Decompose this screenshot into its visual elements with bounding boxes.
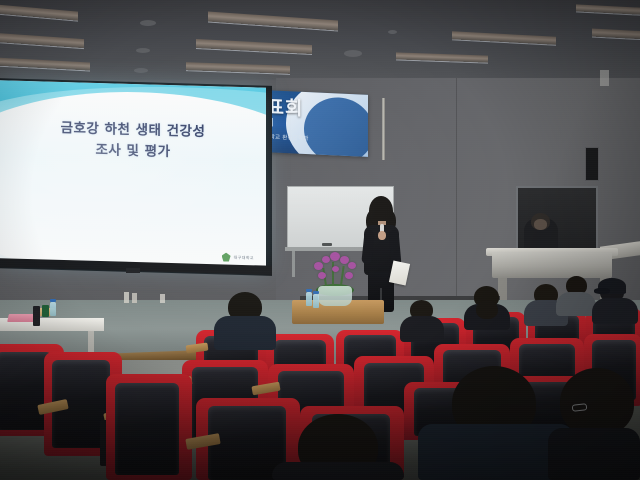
university-emblem-icon xyxy=(222,252,231,261)
ceiling-vent xyxy=(344,50,362,57)
ceiling-light-fixture xyxy=(208,11,338,30)
ceiling-light-fixture xyxy=(576,4,640,14)
ceiling-vent xyxy=(134,68,148,73)
orchid-bloom xyxy=(318,272,326,279)
ceiling-light-fixture xyxy=(0,33,84,48)
water-bottle xyxy=(313,294,319,308)
ceiling-vent xyxy=(140,20,156,26)
bottle-cap xyxy=(50,299,56,302)
water-bottle xyxy=(50,302,56,316)
floor-bottle xyxy=(132,293,137,303)
presenter-notes xyxy=(389,260,410,285)
orchid-bloom xyxy=(348,262,356,269)
slide-university-logo: 대구대학교 xyxy=(222,252,254,262)
orchid-bloom xyxy=(345,272,353,279)
presenter-hand xyxy=(378,231,386,240)
audience-torso xyxy=(400,316,444,342)
ceiling-light-fixture xyxy=(0,4,78,20)
orchid-bloom xyxy=(330,252,340,261)
orchid-bloom xyxy=(322,256,330,263)
ceiling-light-fixture xyxy=(196,39,312,54)
ceiling-vent xyxy=(388,30,397,34)
screen-center-clip xyxy=(126,268,140,273)
seat-row-left xyxy=(106,374,192,480)
water-bottle xyxy=(306,292,312,306)
audience-torso xyxy=(592,298,638,324)
audience-torso xyxy=(556,292,596,316)
audience-head xyxy=(476,300,498,319)
ceiling-light-fixture xyxy=(452,31,556,44)
control-desk xyxy=(492,252,612,278)
banner-support-pole xyxy=(382,98,385,160)
ceiling-light-fixture xyxy=(592,29,640,40)
cap-brim xyxy=(594,288,610,294)
whiteboard-leg xyxy=(292,251,295,277)
presenter xyxy=(355,196,407,314)
ceiling-light-fixture xyxy=(0,57,90,70)
slide-title: 금호강 하천 생태 건강성 조사 및 평가 xyxy=(0,116,266,165)
audience-torso xyxy=(214,316,276,350)
projection-screen: 금호강 하천 생태 건강성 조사 및 평가 대구대학교 xyxy=(0,80,266,270)
ceiling-light-fixture xyxy=(186,62,290,74)
av-operator-face xyxy=(534,219,547,230)
audience-torso xyxy=(548,428,640,480)
whiteboard-marker xyxy=(322,243,332,246)
ceiling-vent xyxy=(136,48,150,53)
floor-bottle xyxy=(124,292,129,303)
ceiling-light-fixture xyxy=(396,52,488,62)
orchid-bloom xyxy=(314,262,323,270)
slide-swoosh-white xyxy=(0,86,266,270)
slide-logo-text: 대구대학교 xyxy=(234,254,254,261)
beverage-can xyxy=(33,314,40,326)
seat-cushion xyxy=(115,383,179,475)
wall-speaker-icon xyxy=(600,70,609,86)
audience-torso xyxy=(272,462,404,480)
bottle-cap xyxy=(313,291,319,294)
orchid-bloom xyxy=(332,266,339,272)
auditorium-photo: 발표회 발표회 : 대구대학교 환경공학과 금호강 하천 생태 건강성 조사 및… xyxy=(0,0,640,480)
floor-bottle xyxy=(160,294,165,303)
wall-speaker-icon xyxy=(585,147,599,181)
bottle-cap xyxy=(306,289,312,292)
banner-swoosh-inner xyxy=(304,96,368,157)
wall-corner-seam xyxy=(456,78,457,310)
flower-vase xyxy=(318,286,352,306)
audience-head-with-glasses xyxy=(560,368,634,436)
beverage-can xyxy=(42,305,49,317)
